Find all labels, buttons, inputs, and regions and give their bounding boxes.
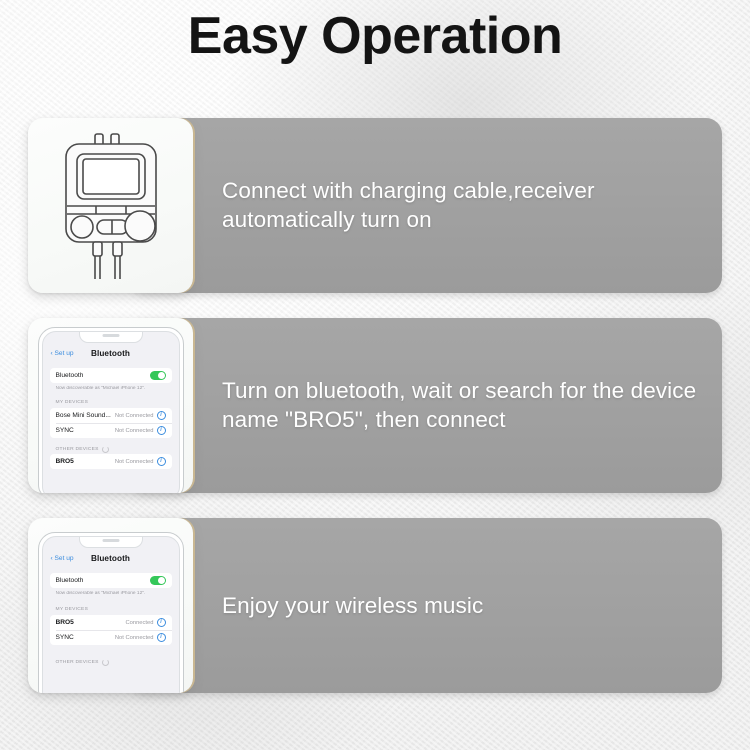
my-devices-header-step-3: MY DEVICES	[56, 607, 89, 612]
iphone-mockup-step-2: ‹ Set up Bluetooth Bluetooth Now discove…	[38, 327, 184, 493]
step-2-banner: Turn on bluetooth, wait or search for th…	[130, 318, 722, 493]
step-2-caption: Turn on bluetooth, wait or search for th…	[222, 376, 702, 436]
step-1-thumbnail-card	[28, 118, 193, 293]
info-icon[interactable]: i	[157, 411, 166, 420]
step-3-banner: Enjoy your wireless music	[130, 518, 722, 693]
bluetooth-toggle-group-step-2: Bluetooth	[50, 368, 172, 383]
device-status: Not Connected	[115, 428, 154, 434]
device-status: Connected	[125, 620, 153, 626]
receiver-device-illustration	[28, 118, 193, 293]
step-row-3: Enjoy your wireless music ‹ Set up Bluet…	[0, 518, 750, 693]
settings-navbar-step-2: ‹ Set up Bluetooth	[43, 347, 179, 364]
bluetooth-toggle-label: Bluetooth	[56, 577, 84, 584]
device-name: BRO5	[56, 458, 74, 465]
list-item[interactable]: SYNC Not Connected i	[50, 630, 172, 645]
device-name: Bose Mini Sound...	[56, 412, 111, 419]
step-3-thumbnail-card: ‹ Set up Bluetooth Bluetooth Now discove…	[28, 518, 193, 693]
device-name: SYNC	[56, 427, 74, 434]
settings-navbar-step-3: ‹ Set up Bluetooth	[43, 552, 179, 569]
other-devices-header-step-2: OTHER DEVICES	[56, 446, 109, 453]
bluetooth-toggle-switch[interactable]	[150, 371, 166, 380]
loading-spinner-icon	[102, 446, 109, 453]
device-status-group: Not Connected i	[115, 426, 166, 435]
device-status-group: Not Connected i	[115, 457, 166, 466]
earpiece-speaker-icon	[102, 334, 119, 337]
step-row-1: Connect with charging cable,receiver aut…	[0, 118, 750, 293]
step-row-2: Turn on bluetooth, wait or search for th…	[0, 318, 750, 493]
loading-spinner-icon	[102, 659, 109, 666]
other-devices-list-step-2: BRO5 Not Connected i	[50, 454, 172, 469]
info-icon[interactable]: i	[157, 457, 166, 466]
bluetooth-toggle-switch[interactable]	[150, 576, 166, 585]
list-item[interactable]: BRO5 Connected i	[50, 615, 172, 630]
receiver-device-icon	[55, 131, 167, 281]
device-status-group: Not Connected i	[115, 411, 166, 420]
bluetooth-toggle-label: Bluetooth	[56, 372, 84, 379]
iphone-screen-step-2: ‹ Set up Bluetooth Bluetooth Now discove…	[42, 331, 180, 493]
bluetooth-toggle-row[interactable]: Bluetooth	[50, 368, 172, 383]
list-item[interactable]: Bose Mini Sound... Not Connected i	[50, 408, 172, 423]
step-1-caption: Connect with charging cable,receiver aut…	[222, 176, 702, 236]
step-3-caption: Enjoy your wireless music	[222, 591, 702, 621]
iphone-notch	[79, 536, 143, 548]
bluetooth-toggle-group-step-3: Bluetooth	[50, 573, 172, 588]
earpiece-speaker-icon	[102, 539, 119, 542]
step-1-banner: Connect with charging cable,receiver aut…	[130, 118, 722, 293]
iphone-notch	[79, 331, 143, 343]
nav-title-bluetooth: Bluetooth	[43, 554, 179, 563]
other-devices-header-step-3: OTHER DEVICES	[56, 659, 109, 666]
nav-title-bluetooth: Bluetooth	[43, 349, 179, 358]
info-icon[interactable]: i	[157, 426, 166, 435]
device-name: BRO5	[56, 619, 74, 626]
discoverable-note-step-3: Now discoverable as "Michael iPhone 12".	[56, 591, 171, 597]
my-devices-list-step-3: BRO5 Connected i SYNC Not Connected i	[50, 615, 172, 645]
iphone-mockup-step-3: ‹ Set up Bluetooth Bluetooth Now discove…	[38, 532, 184, 693]
device-status: Not Connected	[115, 459, 154, 465]
device-status: Not Connected	[115, 635, 154, 641]
device-name: SYNC	[56, 634, 74, 641]
step-2-thumbnail-card: ‹ Set up Bluetooth Bluetooth Now discove…	[28, 318, 193, 493]
my-devices-header-step-2: MY DEVICES	[56, 400, 89, 405]
info-icon[interactable]: i	[157, 633, 166, 642]
iphone-screen-step-3: ‹ Set up Bluetooth Bluetooth Now discove…	[42, 536, 180, 693]
list-item[interactable]: SYNC Not Connected i	[50, 423, 172, 438]
bluetooth-toggle-row[interactable]: Bluetooth	[50, 573, 172, 588]
device-status-group: Not Connected i	[115, 633, 166, 642]
list-item[interactable]: BRO5 Not Connected i	[50, 454, 172, 469]
device-status-group: Connected i	[125, 618, 165, 627]
promo-page: Easy Operation Connect with charging cab…	[0, 0, 750, 750]
device-status: Not Connected	[115, 413, 154, 419]
discoverable-note-step-2: Now discoverable as "Michael iPhone 12".	[56, 386, 171, 392]
my-devices-list-step-2: Bose Mini Sound... Not Connected i SYNC …	[50, 408, 172, 438]
page-title: Easy Operation	[0, 6, 750, 67]
info-icon[interactable]: i	[157, 618, 166, 627]
